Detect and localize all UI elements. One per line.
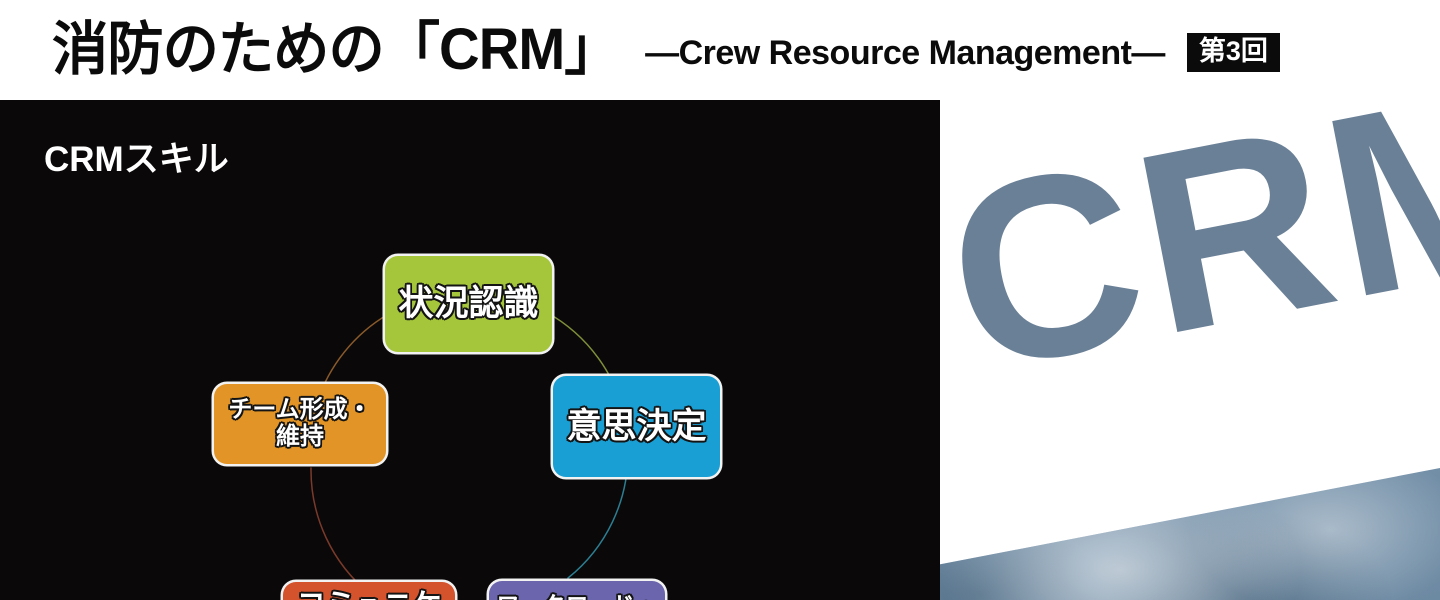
skill-label: ワークロード・マネジメント (497, 593, 658, 600)
skill-box-communication[interactable]: コミュニケーション (283, 582, 455, 600)
crm-skills-panel: CRMスキル 状況認識 意思決定 ワークロード・マネジメント コミュニケーション… (0, 100, 940, 600)
page-header: 消防のための「CRM」 —Crew Resource Management— 第… (0, 0, 1440, 100)
skill-label: コミュニケーション (296, 589, 441, 600)
skill-box-workload-management[interactable]: ワークロード・マネジメント (489, 581, 665, 600)
skill-label: 意思決定 (566, 407, 706, 446)
skill-box-team-building[interactable]: チーム形成・維持 (214, 384, 386, 464)
issue-number-badge: 第3回 (1187, 33, 1280, 72)
page-subtitle-english: —Crew Resource Management— (645, 36, 1165, 70)
arc-left (311, 468, 370, 594)
skill-label: 状況認識 (398, 284, 538, 323)
skill-box-situational-awareness[interactable]: 状況認識 (385, 256, 552, 352)
page-title-japanese: 消防のための「CRM」 (52, 21, 620, 79)
skill-label: チーム形成・維持 (228, 397, 371, 451)
skill-box-decision-making[interactable]: 意思決定 (553, 376, 720, 477)
crm-watermark-dark: CRM (930, 100, 1440, 411)
